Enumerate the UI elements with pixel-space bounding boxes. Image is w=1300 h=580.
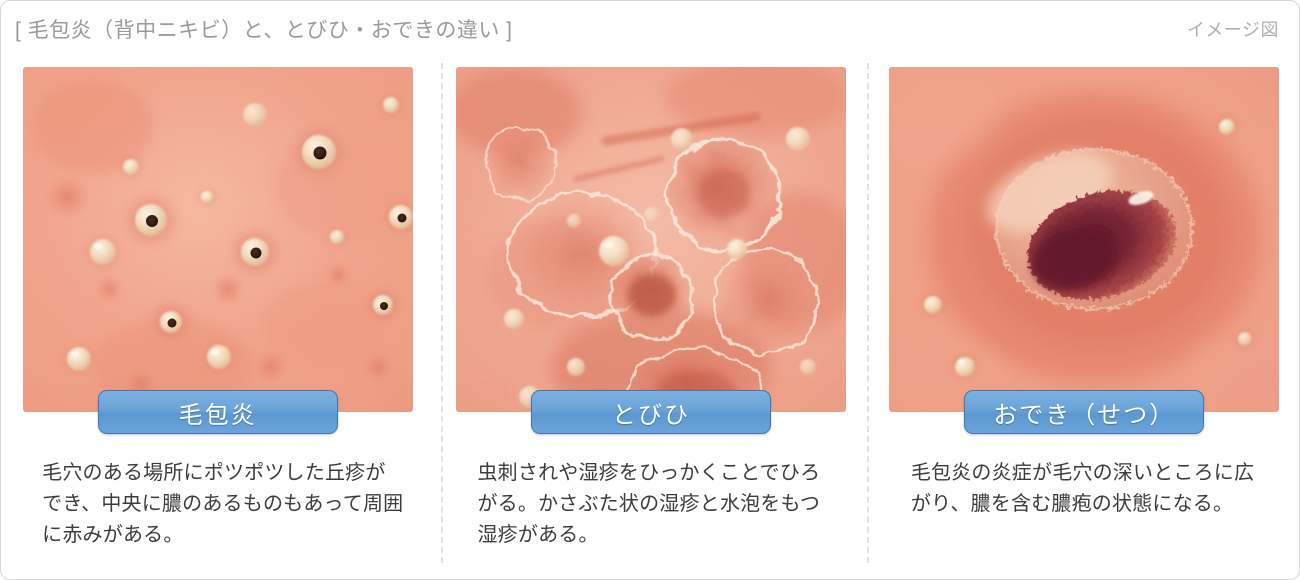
panel-folliculitis: 毛包炎 毛穴のある場所にポツポツした丘疹ができ、中央に膿のあるものもあって周囲に… xyxy=(1,57,434,580)
caption-impetigo: 虫刺されや湿疹をひっかくことでひろがる。かさぶた状の湿疹と水泡をもつ湿疹がある。 xyxy=(463,458,838,551)
header: [ 毛包炎（背中ニキビ）と、とびひ・おできの違い ] イメージ図 xyxy=(1,1,1299,57)
skin-image-impetigo xyxy=(456,67,846,412)
skin-image-folliculitis xyxy=(23,67,413,412)
skin-image-furuncle xyxy=(889,67,1279,412)
panel-row: 毛包炎 毛穴のある場所にポツポツした丘疹ができ、中央に膿のあるものもあって周囲に… xyxy=(1,57,1300,580)
caption-furuncle: 毛包炎の炎症が毛穴の深いところに広がり、膿を含む膿疱の状態になる。 xyxy=(897,458,1272,520)
caption-folliculitis: 毛穴のある場所にポツポツした丘疹ができ、中央に膿のあるものもあって周囲に赤みがあ… xyxy=(30,458,405,551)
badge-furuncle[interactable]: おでき（せつ） xyxy=(964,390,1204,434)
photo-wrap-folliculitis: 毛包炎 xyxy=(23,67,413,412)
infographic-container: [ 毛包炎（背中ニキビ）と、とびひ・おできの違い ] イメージ図 xyxy=(0,0,1300,580)
badge-impetigo[interactable]: とびひ xyxy=(531,390,771,434)
panel-impetigo: とびひ 虫刺されや湿疹をひっかくことでひろがる。かさぶた状の湿疹と水泡をもつ湿疹… xyxy=(434,57,867,580)
photo-wrap-impetigo: とびひ xyxy=(456,67,846,412)
panel-furuncle: おでき（せつ） 毛包炎の炎症が毛穴の深いところに広がり、膿を含む膿疱の状態になる… xyxy=(868,57,1300,580)
badge-folliculitis[interactable]: 毛包炎 xyxy=(98,390,338,434)
photo-wrap-furuncle: おでき（せつ） xyxy=(889,67,1279,412)
image-type-label: イメージ図 xyxy=(1187,16,1279,42)
page-title: [ 毛包炎（背中ニキビ）と、とびひ・おできの違い ] xyxy=(15,14,513,44)
